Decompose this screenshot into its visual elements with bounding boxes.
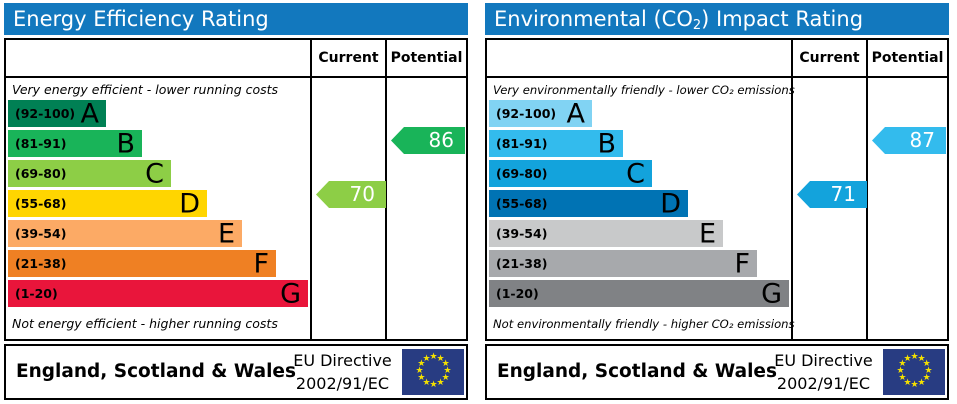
- band-letter: C: [145, 160, 164, 187]
- rating-table-energy: Current Potential Very energy efficient …: [4, 38, 468, 341]
- band-range: (1-20): [496, 280, 539, 307]
- header-divider: [6, 76, 466, 78]
- band-range: (81-91): [496, 130, 547, 157]
- band-g: (1-20) G: [489, 280, 789, 307]
- potential-rating-arrow: 86: [391, 127, 465, 154]
- band-range: (55-68): [496, 190, 547, 217]
- band-d: (55-68) D: [8, 190, 207, 217]
- footer-co2: England, Scotland & Wales EU Directive 2…: [485, 344, 949, 400]
- band-letter: D: [660, 190, 681, 217]
- band-range: (81-91): [15, 130, 66, 157]
- band-letter: B: [597, 130, 616, 157]
- band-letter: C: [626, 160, 645, 187]
- band-range: (69-80): [496, 160, 547, 187]
- band-letter: F: [253, 250, 269, 277]
- band-letter: A: [567, 100, 585, 127]
- band-a: (92-100) A: [8, 100, 106, 127]
- caption-top-co2: Very environmentally friendly - lower CO…: [493, 80, 789, 100]
- footer-energy: England, Scotland & Wales EU Directive 2…: [4, 344, 468, 400]
- column-header-current: Current: [312, 40, 385, 76]
- band-range: (55-68): [15, 190, 66, 217]
- rating-table-co2: Current Potential Very environmentally f…: [485, 38, 949, 341]
- eu-flag-icon: ★★★★★★★★★★★★: [402, 349, 464, 395]
- band-letter: E: [218, 220, 235, 247]
- column-divider-current: [310, 40, 312, 339]
- chart-title-text: Energy Efficiency Rating: [13, 7, 269, 31]
- chart-title-text: Environmental (CO: [494, 7, 693, 31]
- chart-title-co2: Environmental (CO2) Impact Rating: [485, 3, 949, 35]
- band-list-energy: (92-100) A (81-91) B (69-80) C (55-68) D…: [6, 100, 308, 312]
- band-letter: B: [116, 130, 135, 157]
- band-c: (69-80) C: [489, 160, 652, 187]
- band-b: (81-91) B: [8, 130, 142, 157]
- directive-line-2: 2002/91/EC: [286, 372, 399, 395]
- caption-top-energy: Very energy efficient - lower running co…: [12, 80, 308, 100]
- potential-rating-arrow: 87: [872, 127, 946, 154]
- column-header-current: Current: [793, 40, 866, 76]
- current-rating-arrow: 70: [316, 181, 386, 208]
- band-letter: E: [699, 220, 716, 247]
- column-header-potential: Potential: [868, 40, 947, 76]
- band-range: (92-100): [496, 100, 556, 127]
- band-f: (21-38) F: [8, 250, 276, 277]
- band-f: (21-38) F: [489, 250, 757, 277]
- band-c: (69-80) C: [8, 160, 171, 187]
- band-letter: G: [280, 280, 301, 307]
- band-letter: F: [734, 250, 750, 277]
- band-range: (69-80): [15, 160, 66, 187]
- directive-line-1: EU Directive: [286, 349, 399, 372]
- header-divider: [487, 76, 947, 78]
- band-e: (39-54) E: [8, 220, 242, 247]
- band-g: (1-20) G: [8, 280, 308, 307]
- chart-title-tail: ) Impact Rating: [701, 7, 863, 31]
- band-range: (1-20): [15, 280, 58, 307]
- directive-line-1: EU Directive: [767, 349, 880, 372]
- band-range: (39-54): [15, 220, 66, 247]
- band-e: (39-54) E: [489, 220, 723, 247]
- band-range: (92-100): [15, 100, 75, 127]
- footer-region-label: England, Scotland & Wales: [497, 346, 777, 398]
- column-header-potential: Potential: [387, 40, 466, 76]
- band-letter: D: [179, 190, 200, 217]
- eu-flag-icon: ★★★★★★★★★★★★: [883, 349, 945, 395]
- epc-charts-page: Energy Efficiency Rating Current Potenti…: [0, 0, 957, 404]
- band-range: (21-38): [496, 250, 547, 277]
- band-list-co2: (92-100) A (81-91) B (69-80) C (55-68) D…: [487, 100, 789, 312]
- caption-bottom-co2: Not environmentally friendly - higher CO…: [493, 313, 789, 335]
- footer-directive-label: EU Directive 2002/91/EC: [767, 349, 880, 395]
- directive-line-2: 2002/91/EC: [767, 372, 880, 395]
- footer-region-label: England, Scotland & Wales: [16, 346, 296, 398]
- band-letter: G: [761, 280, 782, 307]
- chart-title-subscript: 2: [693, 18, 701, 33]
- band-range: (39-54): [496, 220, 547, 247]
- current-rating-arrow: 71: [797, 181, 867, 208]
- band-d: (55-68) D: [489, 190, 688, 217]
- band-letter: A: [81, 100, 99, 127]
- environmental-co2-impact-rating-chart: Environmental (CO2) Impact Rating Curren…: [481, 0, 953, 404]
- band-a: (92-100) A: [489, 100, 592, 127]
- caption-bottom-energy: Not energy efficient - higher running co…: [12, 313, 308, 335]
- band-b: (81-91) B: [489, 130, 623, 157]
- footer-directive-label: EU Directive 2002/91/EC: [286, 349, 399, 395]
- energy-efficiency-rating-chart: Energy Efficiency Rating Current Potenti…: [0, 0, 472, 404]
- chart-title-energy: Energy Efficiency Rating: [4, 3, 468, 35]
- band-range: (21-38): [15, 250, 66, 277]
